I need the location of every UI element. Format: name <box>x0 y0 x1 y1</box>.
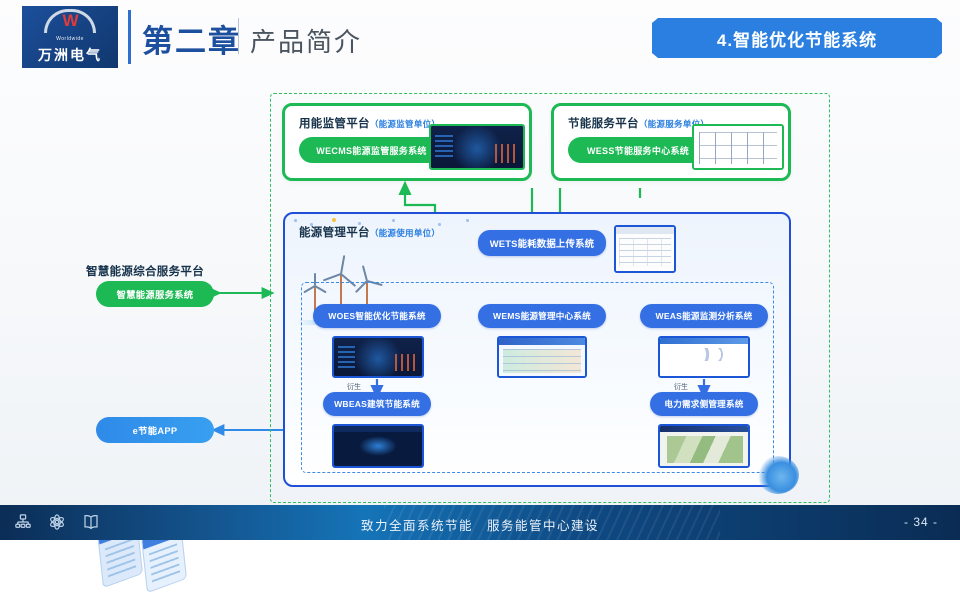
chapter-separator <box>238 18 239 54</box>
section-banner: 4.智能优化节能系统 <box>652 18 942 58</box>
pill-dsm[interactable]: 电力需求侧管理系统 <box>650 392 758 416</box>
thumbnail-wecms-dashboard <box>429 124 525 170</box>
pill-weas[interactable]: WEAS能源监测分析系统 <box>640 304 768 328</box>
pill-smart-energy-service[interactable]: 智慧能源服务系统 <box>96 281 214 307</box>
architecture-diagram: 用能监管平台（能源监管单位） WECMS能源监管服务系统 节能服务平台（能源服务… <box>0 80 960 505</box>
chapter-subtitle: 产品简介 <box>250 22 362 59</box>
header-divider-bar <box>128 10 131 64</box>
pill-wecms[interactable]: WECMS能源监管服务系统 <box>299 137 444 163</box>
thumbnail-wbeas-command <box>332 424 424 468</box>
section-banner-label: 4.智能优化节能系统 <box>717 26 877 51</box>
service-platform-title: 节能服务平台（能源服务单位） <box>568 115 709 131</box>
slide-header: W Worldwide 万洲电气 第二章 产品简介 4.智能优化节能系统 <box>0 0 960 76</box>
slide-footer: 致力全面系统节能 服务能管中心建设 - 34 - <box>0 505 960 540</box>
footer-slogan: 致力全面系统节能 服务能管中心建设 <box>0 515 960 534</box>
supervision-platform-title: 用能监管平台（能源监管单位） <box>299 115 440 131</box>
derive-label-weas: 衍生 <box>674 382 688 392</box>
logo-subtext: Worldwide <box>56 36 84 42</box>
thumbnail-woes-scada <box>332 336 424 378</box>
pill-wets[interactable]: WETS能耗数据上传系统 <box>478 230 606 256</box>
chapter-title: 第二章 <box>142 16 241 61</box>
left-platform-title: 智慧能源综合服务平台 <box>86 263 204 279</box>
thumbnail-wets-report <box>614 225 676 273</box>
pill-e-energy-app[interactable]: e节能APP <box>96 417 214 443</box>
company-logo: W Worldwide 万洲电气 <box>22 6 118 68</box>
pill-wems[interactable]: WEMS能源管理中心系统 <box>478 304 606 328</box>
logo-company-name: 万洲电气 <box>38 45 102 65</box>
thumbnail-wems-dashboard <box>497 336 587 378</box>
pill-wess[interactable]: WESS节能服务中心系统 <box>568 137 708 163</box>
cloud-glow-decor <box>757 456 799 494</box>
thumbnail-dsm-map <box>658 424 750 468</box>
thumbnail-weas-gauges <box>658 336 750 378</box>
logo-letter: W <box>62 12 77 29</box>
thumbnail-wess-schematic <box>692 124 784 170</box>
logo-mark-icon: W <box>44 9 96 35</box>
footer-page-number: - 34 - <box>904 515 938 529</box>
decorative-dots <box>288 217 478 227</box>
pill-wbeas[interactable]: WBEAS建筑节能系统 <box>323 392 431 416</box>
energy-platform-paren: （能源使用单位） <box>370 228 440 238</box>
slide-root: W Worldwide 万洲电气 第二章 产品简介 4.智能优化节能系统 <box>0 0 960 540</box>
pill-woes[interactable]: WOES智能优化节能系统 <box>313 304 441 328</box>
derive-label-woes: 衍生 <box>347 382 361 392</box>
